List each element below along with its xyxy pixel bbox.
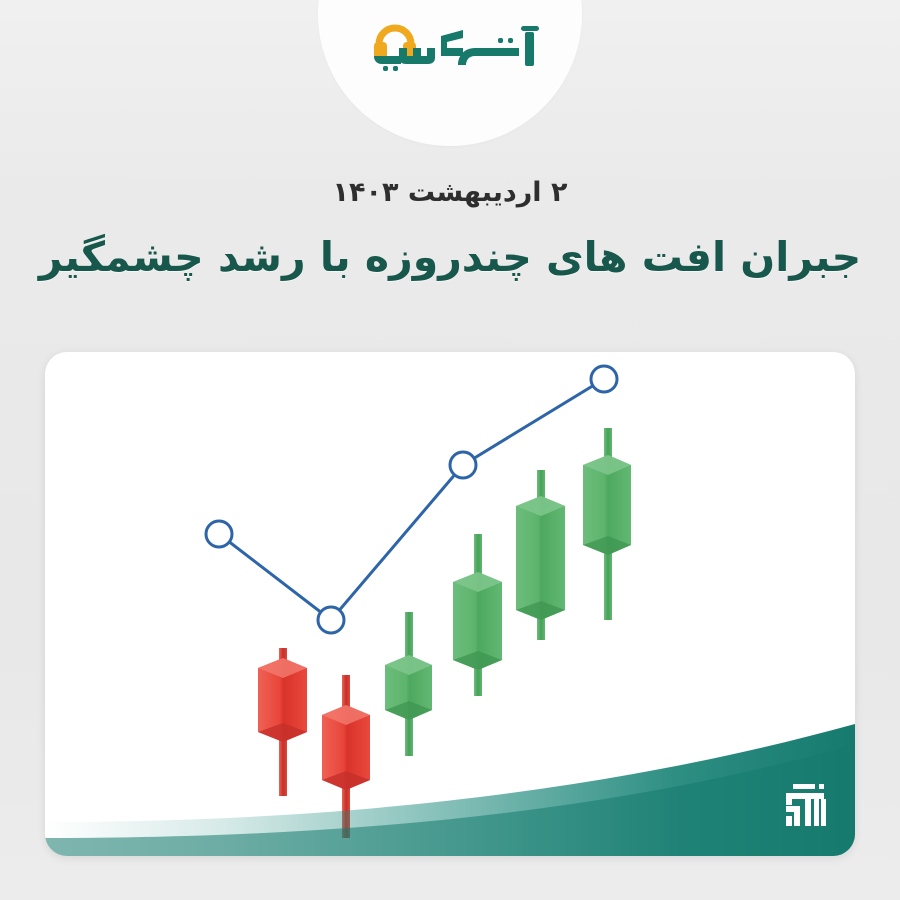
candlestick-3-bullish [385,612,432,756]
candlestick-6-bullish [583,428,631,620]
candlestick-5-bullish [516,470,565,640]
trend-marker-2[interactable] [318,607,344,633]
ati-mark-icon [781,782,829,828]
trend-marker-3[interactable] [450,452,476,478]
wordmark-glyphs [374,26,539,71]
corner-swoosh-shape [45,724,855,856]
chart-card [45,352,855,856]
ati-cast-wordmark-icon [355,18,545,80]
infographic-poster: ۲ اردیبهشت ۱۴۰۳ جبران افت های چندروزه با… [0,0,900,900]
candlestick-4-bullish [453,534,502,696]
publication-date: ۲ اردیبهشت ۱۴۰۳ [0,178,900,208]
brand-logo [0,18,900,80]
page-title: جبران افت های چندروزه با رشد چشمگیر [18,232,882,282]
trend-marker-4[interactable] [591,366,617,392]
candlestick-1-bearish [258,648,307,796]
candlestick-chart [45,352,855,856]
trend-marker-1[interactable] [206,521,232,547]
